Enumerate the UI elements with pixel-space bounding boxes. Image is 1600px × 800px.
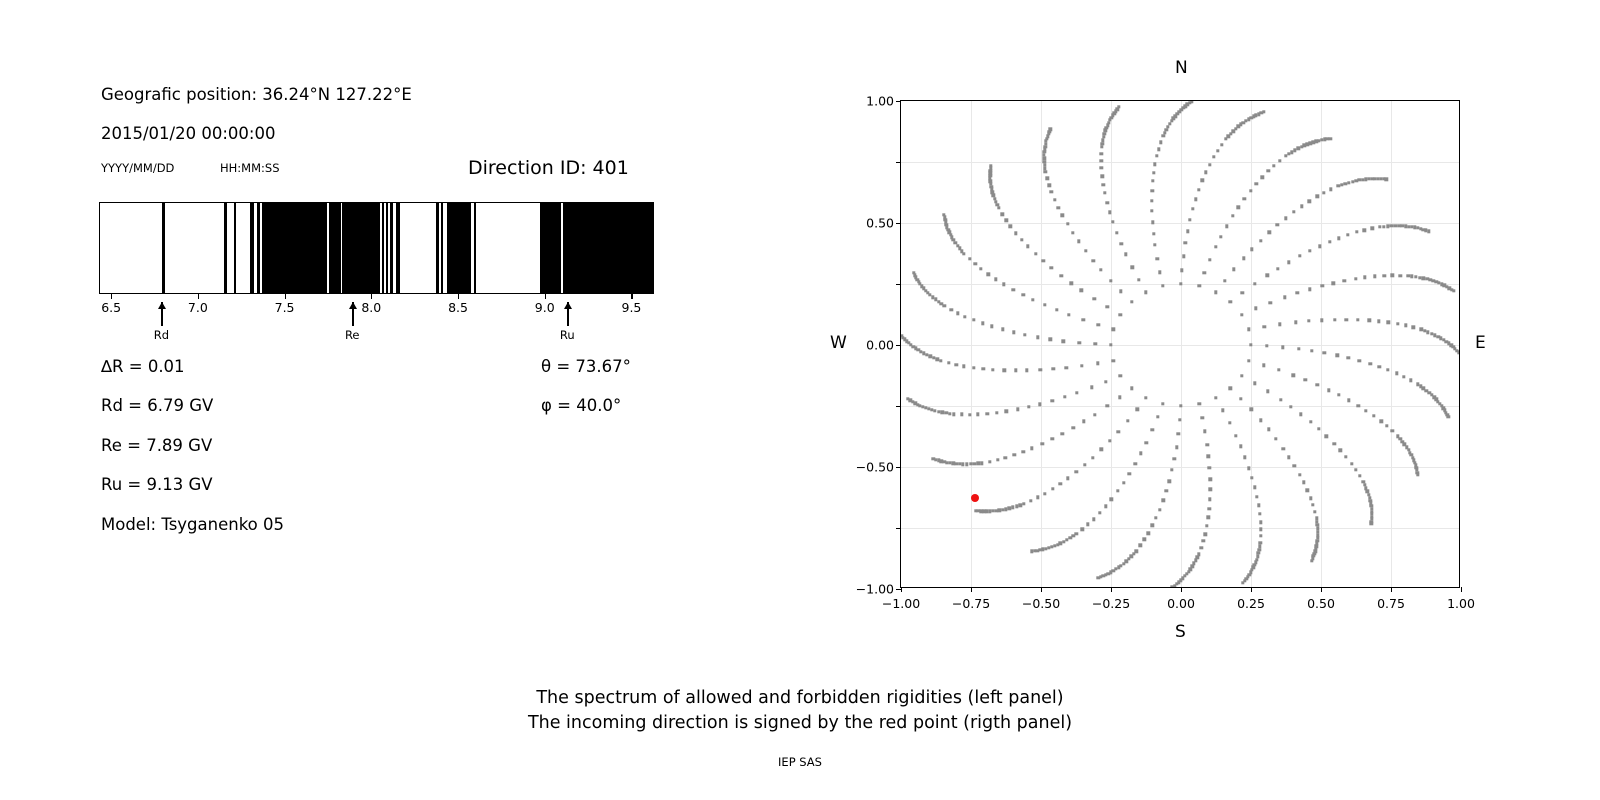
spectrum-x-tick <box>371 294 372 299</box>
direction-point <box>1135 408 1138 411</box>
direction-point <box>1208 487 1211 490</box>
direction-point <box>1255 495 1258 498</box>
x-axis-tick-label: −0.50 <box>1022 596 1060 611</box>
direction-point <box>1152 171 1155 174</box>
direction-point <box>1047 546 1050 549</box>
direction-point <box>1038 368 1041 371</box>
direction-point <box>1281 346 1284 349</box>
direction-point <box>1212 155 1215 158</box>
direction-point <box>1105 305 1108 308</box>
direction-point <box>996 203 999 206</box>
direction-point <box>943 216 946 219</box>
direction-point <box>986 412 989 415</box>
direction-point <box>1310 349 1313 352</box>
direction-point <box>1072 534 1075 537</box>
direction-point <box>1373 275 1376 278</box>
direction-point <box>1099 159 1102 162</box>
direction-point <box>1093 342 1096 345</box>
direction-point <box>1387 321 1390 324</box>
direction-point <box>1351 180 1354 183</box>
incoming-direction-marker[interactable] <box>971 494 979 502</box>
forbidden-band <box>441 203 443 293</box>
direction-point <box>943 304 946 307</box>
direction-point <box>1075 532 1078 535</box>
direction-point <box>1438 402 1441 405</box>
direction-point <box>1367 493 1370 496</box>
direction-point <box>1308 288 1311 291</box>
direction-point <box>1247 359 1250 362</box>
cutoff-arrow-label-ru: Ru <box>560 328 575 342</box>
direction-point <box>1355 230 1358 233</box>
direction-point <box>1305 489 1308 492</box>
direction-point <box>1250 568 1253 571</box>
direction-point <box>941 411 944 414</box>
direction-point <box>1115 231 1118 234</box>
direction-point <box>1151 221 1154 224</box>
direction-point <box>1109 279 1112 282</box>
x-axis-tick <box>1391 587 1392 592</box>
direction-point <box>973 462 976 465</box>
direction-point <box>1080 364 1083 367</box>
direction-point <box>1154 516 1157 519</box>
spectrum-x-tick-label: 9.5 <box>622 300 642 315</box>
direction-point <box>1262 364 1265 367</box>
forbidden-band <box>250 203 254 293</box>
direction-point <box>1071 231 1074 234</box>
direction-point <box>1072 426 1075 429</box>
direction-point <box>1002 283 1005 286</box>
direction-point <box>1368 362 1371 365</box>
parameter-row: Model: Tsyganenko 05 <box>101 515 284 534</box>
direction-point <box>1457 351 1459 354</box>
direction-point <box>1166 125 1169 128</box>
spectrum-x-tick-label: 9.0 <box>535 300 555 315</box>
direction-point <box>1171 585 1174 587</box>
direction-point <box>1410 225 1413 228</box>
direction-point <box>927 407 930 410</box>
direction-point <box>1188 101 1191 104</box>
direction-point <box>1118 396 1121 399</box>
direction-point <box>1203 429 1206 432</box>
direction-point <box>1268 230 1271 233</box>
direction-point <box>987 272 990 275</box>
spectrum-x-tick <box>545 294 546 299</box>
direction-point <box>1347 356 1350 359</box>
direction-point <box>1370 507 1373 510</box>
direction-point <box>1177 432 1180 435</box>
direction-point <box>989 179 992 182</box>
forbidden-band <box>234 203 236 293</box>
direction-point <box>1405 445 1408 448</box>
direction-point <box>980 461 983 464</box>
direction-point <box>1296 291 1299 294</box>
direction-point <box>1321 284 1324 287</box>
direction-point <box>1152 232 1155 235</box>
direction-point <box>1130 386 1133 389</box>
direction-point <box>1016 407 1019 410</box>
direction-point <box>998 509 1001 512</box>
direction-point <box>1289 405 1292 408</box>
direction-point <box>1163 131 1166 134</box>
compass-north-label: N <box>1175 58 1188 78</box>
direction-point <box>1108 211 1111 214</box>
direction-point <box>1223 279 1226 282</box>
direction-point <box>1097 323 1100 326</box>
direction-point <box>968 413 971 416</box>
direction-point <box>1202 539 1205 542</box>
direction-point <box>1158 508 1161 511</box>
direction-point <box>958 462 961 465</box>
footer-credit: IEP SAS <box>0 755 1600 769</box>
direction-point <box>1131 265 1134 268</box>
direction-point <box>1184 241 1187 244</box>
direction-point <box>1050 190 1053 193</box>
direction-point <box>1197 188 1200 191</box>
direction-point <box>1402 375 1405 378</box>
right-panel: N W E S −1.00−0.500.000.501.00 −1.00−0.7… <box>820 30 1560 650</box>
direction-point <box>1312 140 1315 143</box>
cutoff-arrow-label-re: Re <box>345 328 360 342</box>
direction-point <box>1055 308 1058 311</box>
cutoff-arrow-label-rd: Rd <box>154 328 169 342</box>
forbidden-band <box>262 203 328 293</box>
direction-point <box>1080 289 1083 292</box>
direction-point <box>1259 239 1262 242</box>
direction-point <box>955 462 958 465</box>
direction-point <box>1092 259 1095 262</box>
direction-point <box>1116 489 1119 492</box>
direction-point <box>1204 532 1207 535</box>
direction-point <box>1239 397 1242 400</box>
direction-point <box>1208 478 1211 481</box>
direction-point <box>972 318 975 321</box>
direction-point <box>1292 374 1295 377</box>
direction-point <box>1297 147 1300 150</box>
direction-point <box>1048 183 1051 186</box>
y-axis-tick <box>896 528 901 529</box>
direction-point <box>1001 328 1004 331</box>
direction-point <box>979 267 982 270</box>
direction-point <box>1287 260 1290 263</box>
direction-point <box>1092 518 1095 521</box>
x-axis-tick <box>1041 587 1042 592</box>
direction-point <box>1106 404 1109 407</box>
x-axis-tick <box>1111 587 1112 592</box>
direction-point <box>1197 284 1200 287</box>
direction-point <box>1043 163 1046 166</box>
direction-point <box>1053 544 1056 547</box>
direction-point <box>1293 464 1296 467</box>
direction-point <box>1165 128 1168 131</box>
direction-point <box>1253 382 1256 385</box>
cutoff-arrow-rd <box>161 302 162 326</box>
direction-point <box>1127 472 1130 475</box>
forbidden-band <box>474 203 476 293</box>
direction-point <box>1317 427 1320 430</box>
direction-point <box>1254 307 1257 310</box>
direction-point <box>960 413 963 416</box>
direction-point <box>901 336 904 339</box>
direction-point <box>1201 178 1204 181</box>
direction-point <box>1269 301 1272 304</box>
direction-point <box>924 406 927 409</box>
direction-point <box>997 206 1000 209</box>
direction-point <box>1102 135 1105 138</box>
direction-point <box>952 462 955 465</box>
y-axis-tick-label: 0.50 <box>866 216 901 231</box>
direction-point <box>912 345 915 348</box>
direction-point <box>1165 489 1168 492</box>
direction-plot-axes: −1.00−0.500.000.501.00 −1.00−0.75−0.50−0… <box>900 100 1460 588</box>
direction-point <box>1124 560 1127 563</box>
direction-point <box>1267 169 1270 172</box>
direction-point <box>1328 240 1331 243</box>
compass-west-label: W <box>830 333 847 353</box>
direction-point <box>1220 143 1223 146</box>
direction-point <box>1447 342 1450 345</box>
direction-point <box>947 228 950 231</box>
direction-point <box>965 462 968 465</box>
direction-point <box>1221 409 1224 412</box>
direction-point <box>1036 335 1039 338</box>
direction-point <box>962 365 965 368</box>
direction-point <box>1067 313 1070 316</box>
direction-point <box>1332 442 1335 445</box>
parameter-row: θ = 73.67° <box>541 357 631 376</box>
direction-point <box>1139 452 1142 455</box>
direction-point <box>929 355 932 358</box>
x-axis-tick-label: 0.50 <box>1307 596 1335 611</box>
direction-point <box>1001 213 1004 216</box>
direction-point <box>1100 145 1103 148</box>
direction-point <box>1044 142 1047 145</box>
direction-point <box>1008 507 1011 510</box>
direction-point <box>1168 122 1171 125</box>
direction-point <box>1323 351 1326 354</box>
direction-point <box>1333 318 1336 321</box>
direction-point <box>1207 516 1210 519</box>
direction-point <box>1386 368 1389 371</box>
direction-point <box>1075 391 1078 394</box>
direction-point <box>1422 277 1425 280</box>
direction-point <box>995 411 998 414</box>
direction-point <box>1083 463 1086 466</box>
direction-point <box>1345 318 1348 321</box>
direction-point <box>1229 386 1232 389</box>
direction-point <box>1101 139 1104 142</box>
direction-point <box>1205 443 1208 446</box>
direction-point <box>972 366 975 369</box>
direction-point <box>1143 538 1146 541</box>
spectrum-x-tick-label: 8.5 <box>448 300 468 315</box>
direction-point <box>1145 441 1148 444</box>
y-axis-tick-label: −1.00 <box>856 582 901 597</box>
direction-point <box>1304 378 1307 381</box>
direction-point <box>1277 368 1280 371</box>
direction-point <box>1049 338 1052 341</box>
direction-point <box>1298 254 1301 257</box>
direction-point <box>1346 233 1349 236</box>
direction-point <box>1122 481 1125 484</box>
direction-point <box>1344 455 1347 458</box>
direction-point <box>1358 474 1361 477</box>
direction-point <box>1033 549 1036 552</box>
direction-point <box>1159 141 1162 144</box>
direction-point <box>989 167 992 170</box>
direction-point <box>1119 290 1122 293</box>
direction-point <box>1091 456 1094 459</box>
direction-point <box>1043 167 1046 170</box>
direction-point <box>1428 391 1431 394</box>
direction-point <box>1034 252 1037 255</box>
direction-point <box>1051 399 1054 402</box>
direction-point <box>1112 359 1115 362</box>
direction-point <box>1318 244 1321 247</box>
time-format-hint: HH:MM:SS <box>220 161 280 175</box>
direction-point <box>1065 366 1068 369</box>
direction-point <box>1111 220 1114 223</box>
direction-point <box>1247 118 1250 121</box>
direction-point <box>994 278 997 281</box>
direction-point <box>936 357 939 360</box>
direction-point <box>1239 445 1242 448</box>
direction-point <box>1081 528 1084 531</box>
direction-point <box>1274 437 1277 440</box>
direction-point <box>1385 424 1388 427</box>
direction-point <box>1150 209 1153 212</box>
direction-point <box>1326 137 1329 140</box>
direction-point <box>1065 538 1068 541</box>
y-axis-tick-label: 0.00 <box>866 338 901 353</box>
direction-point <box>1363 276 1366 279</box>
direction-point <box>1354 277 1357 280</box>
direction-point <box>1124 253 1127 256</box>
parameter-row: ∆R = 0.01 <box>101 357 185 376</box>
direction-point <box>1259 527 1262 530</box>
direction-point <box>1116 107 1119 110</box>
direction-point <box>1098 511 1101 514</box>
direction-point <box>1284 217 1287 220</box>
direction-point <box>1044 170 1047 173</box>
geographic-position-label: Geografic position: 36.24°N 127.22°E <box>101 85 412 104</box>
direction-point <box>1313 510 1316 513</box>
direction-point <box>1311 503 1314 506</box>
direction-point <box>1051 487 1054 490</box>
direction-point <box>1112 328 1115 331</box>
direction-point <box>1297 347 1300 350</box>
direction-point <box>1050 545 1053 548</box>
direction-point <box>1022 450 1025 453</box>
direction-point <box>1063 395 1066 398</box>
direction-point <box>1092 297 1095 300</box>
compass-south-label: S <box>1175 622 1186 642</box>
x-axis-tick-label: −0.25 <box>1092 596 1130 611</box>
forbidden-band <box>436 203 439 293</box>
direction-point <box>1100 166 1103 169</box>
direction-point <box>1412 326 1415 329</box>
direction-point <box>1052 367 1055 370</box>
x-axis-tick-label: −0.75 <box>952 596 990 611</box>
direction-point <box>1161 284 1164 287</box>
x-axis-tick-label: 1.00 <box>1447 596 1475 611</box>
cutoff-arrow-ru <box>567 302 568 326</box>
direction-point <box>1364 409 1367 412</box>
direction-point <box>1042 259 1045 262</box>
direction-point <box>1014 369 1017 372</box>
direction-point <box>993 197 996 200</box>
direction-point <box>1104 504 1107 507</box>
y-axis-tick-label: 1.00 <box>866 94 901 109</box>
direction-point <box>1077 240 1080 243</box>
direction-point <box>939 359 942 362</box>
direction-point <box>1395 372 1398 375</box>
direction-point <box>1104 380 1107 383</box>
spectrum-x-tick <box>458 294 459 299</box>
direction-point <box>1084 249 1087 252</box>
direction-point <box>1062 339 1065 342</box>
direction-point <box>1099 268 1102 271</box>
x-axis-tick <box>1321 587 1322 592</box>
direction-point <box>1320 318 1323 321</box>
direction-point <box>1112 569 1115 572</box>
direction-point <box>1178 418 1181 421</box>
direction-point <box>1153 163 1156 166</box>
forbidden-band <box>224 203 227 293</box>
direction-point <box>1012 331 1015 334</box>
direction-point <box>1200 416 1203 419</box>
direction-point <box>1308 199 1311 202</box>
direction-point <box>1283 295 1286 298</box>
direction-point <box>1256 555 1259 558</box>
direction-point <box>977 509 980 512</box>
direction-point <box>1316 195 1319 198</box>
direction-point <box>1151 179 1154 182</box>
direction-point <box>1363 228 1366 231</box>
direction-point <box>1416 471 1419 474</box>
direction-point <box>1409 379 1412 382</box>
direction-point <box>976 462 979 465</box>
direction-point <box>1259 418 1262 421</box>
forbidden-band-group <box>100 203 653 293</box>
direction-point <box>913 273 916 276</box>
forbidden-band <box>257 203 260 293</box>
forbidden-band <box>447 203 471 293</box>
direction-point <box>1177 110 1180 113</box>
direction-point <box>1004 456 1007 459</box>
direction-point <box>1056 543 1059 546</box>
forbidden-band <box>329 203 341 293</box>
direction-point <box>969 462 972 465</box>
direction-point <box>921 405 924 408</box>
direction-point <box>1144 290 1147 293</box>
direction-point <box>1336 354 1339 357</box>
direction-point <box>1025 369 1028 372</box>
direction-point <box>1347 399 1350 402</box>
direction-point <box>1263 325 1266 328</box>
direction-point <box>1343 279 1346 282</box>
x-axis-tick-label: 0.25 <box>1237 596 1265 611</box>
direction-point <box>1276 223 1279 226</box>
x-axis-tick-label: 0.75 <box>1377 596 1405 611</box>
direction-point <box>1332 281 1335 284</box>
direction-point <box>1259 534 1262 537</box>
direction-point <box>1228 421 1231 424</box>
direction-point <box>1219 235 1222 238</box>
direction-point <box>1372 414 1375 417</box>
direction-point <box>931 295 934 298</box>
direction-point <box>1082 420 1085 423</box>
direction-point <box>1214 245 1217 248</box>
